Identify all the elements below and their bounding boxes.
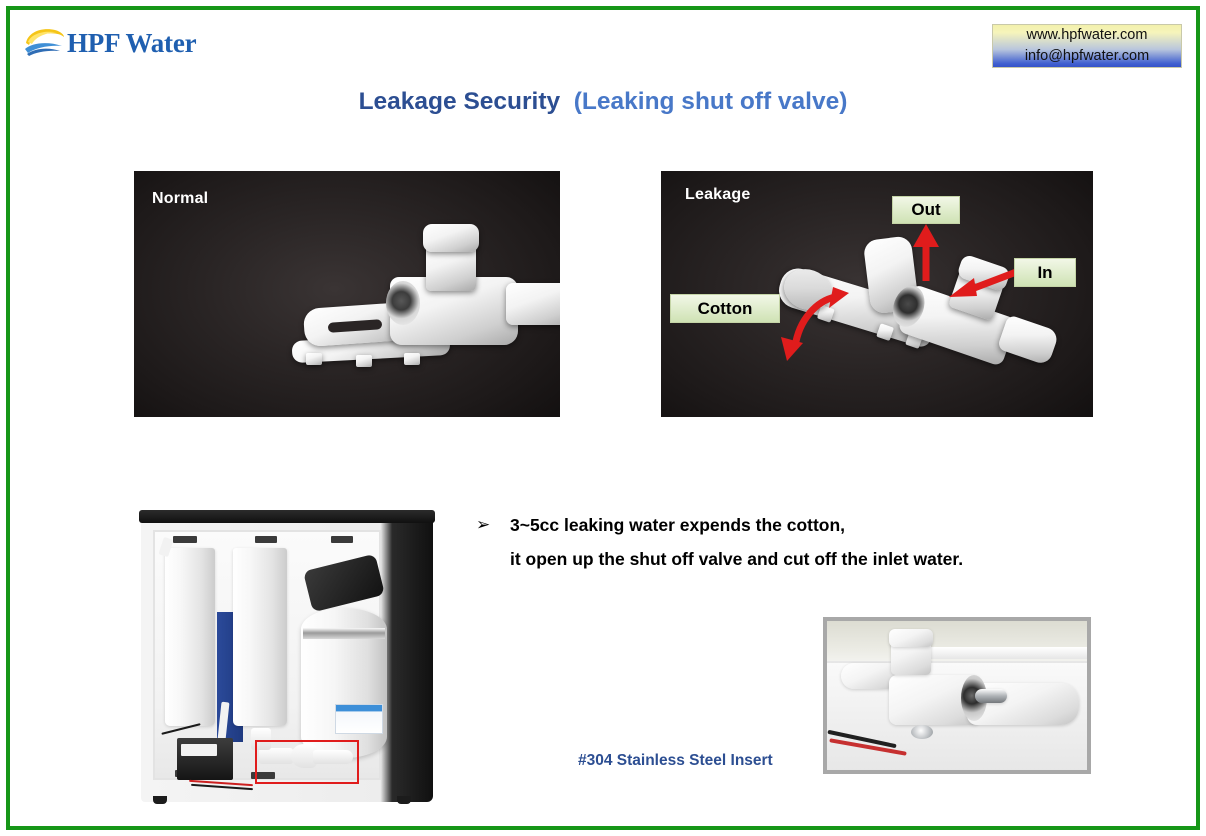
leakage-valve-photo: Leakage: [661, 171, 1093, 417]
closeup-rail: [923, 647, 1091, 659]
cabinet-foot: [397, 796, 411, 804]
bullet-line-2: ➢ it open up the shut off valve and cut …: [476, 542, 1096, 576]
bullet-text-1: 3~5cc leaking water expends the cotton,: [510, 508, 845, 542]
stainless-steel-insert: [975, 689, 1007, 703]
contact-info-box[interactable]: www.hpfwater.com info@hpfwater.com: [992, 24, 1182, 68]
in-arrow-icon: [941, 263, 1023, 307]
cabinet-top-cover: [139, 510, 435, 523]
closeup-valve-cap: [889, 629, 933, 647]
filter-housing-2: [233, 548, 287, 726]
valve-tab: [876, 323, 894, 341]
filter-housing-1: [165, 548, 215, 726]
booster-pump: [303, 554, 385, 613]
ro-system-cutaway-photo: [135, 508, 445, 811]
description-text-block: ➢ 3~5cc leaking water expends the cotton…: [476, 508, 1096, 576]
callout-in-label: In: [1037, 263, 1052, 283]
callout-out-label: Out: [911, 200, 940, 220]
title-sub: (Leaking shut off valve): [574, 88, 848, 115]
closeup-screw: [911, 725, 933, 739]
title-main: Leakage Security: [359, 88, 561, 115]
normal-panel-caption: Normal: [152, 190, 208, 208]
leak-detector-highlight-box: [255, 740, 359, 784]
valve-tab: [404, 353, 420, 365]
transformer-label: [181, 744, 217, 756]
cabinet-vent: [173, 536, 197, 543]
leakage-panel-caption: Leakage: [685, 186, 750, 204]
shut-off-valve-normal-illustration: [284, 201, 554, 381]
valve-tab: [356, 355, 372, 367]
email-address[interactable]: info@hpfwater.com: [1025, 46, 1149, 67]
bullet-arrow-icon: ➢: [476, 508, 510, 542]
valve-outlet-cap: [423, 224, 479, 252]
valve-inlet-port: [997, 314, 1060, 366]
valve-inlet-port: [506, 283, 560, 325]
slide-canvas: HPF Water www.hpfwater.com info@hpfwater…: [0, 0, 1206, 836]
insert-caption: #304 Stainless Steel Insert: [578, 752, 773, 770]
normal-valve-photo: Normal: [134, 171, 560, 417]
callout-cotton[interactable]: Cotton: [670, 294, 780, 323]
website-url[interactable]: www.hpfwater.com: [1027, 25, 1148, 46]
valve-tab: [306, 353, 322, 365]
cabinet-interior: [153, 530, 381, 780]
valve-steel-insert-ring: [386, 281, 420, 325]
pressure-tank-band: [303, 628, 385, 639]
callout-in[interactable]: In: [1014, 258, 1076, 287]
page-title: Leakage Security (Leaking shut off valve…: [0, 88, 1206, 116]
cotton-double-arrow-icon: [773, 283, 859, 365]
stainless-steel-insert-closeup-photo: [823, 617, 1091, 774]
brand-logo[interactable]: HPF Water: [22, 22, 252, 64]
cabinet-foot: [153, 796, 167, 804]
callout-cotton-label: Cotton: [698, 299, 753, 319]
sun-wave-logo-icon: [22, 26, 66, 60]
pressure-tank-label: [335, 704, 383, 734]
cabinet-vent: [255, 536, 277, 543]
callout-out[interactable]: Out: [892, 196, 960, 224]
brand-name: HPF Water: [67, 30, 196, 57]
cabinet-vent: [331, 536, 353, 543]
bullet-text-2: it open up the shut off valve and cut of…: [510, 542, 963, 576]
bullet-line-1: ➢ 3~5cc leaking water expends the cotton…: [476, 508, 1096, 542]
